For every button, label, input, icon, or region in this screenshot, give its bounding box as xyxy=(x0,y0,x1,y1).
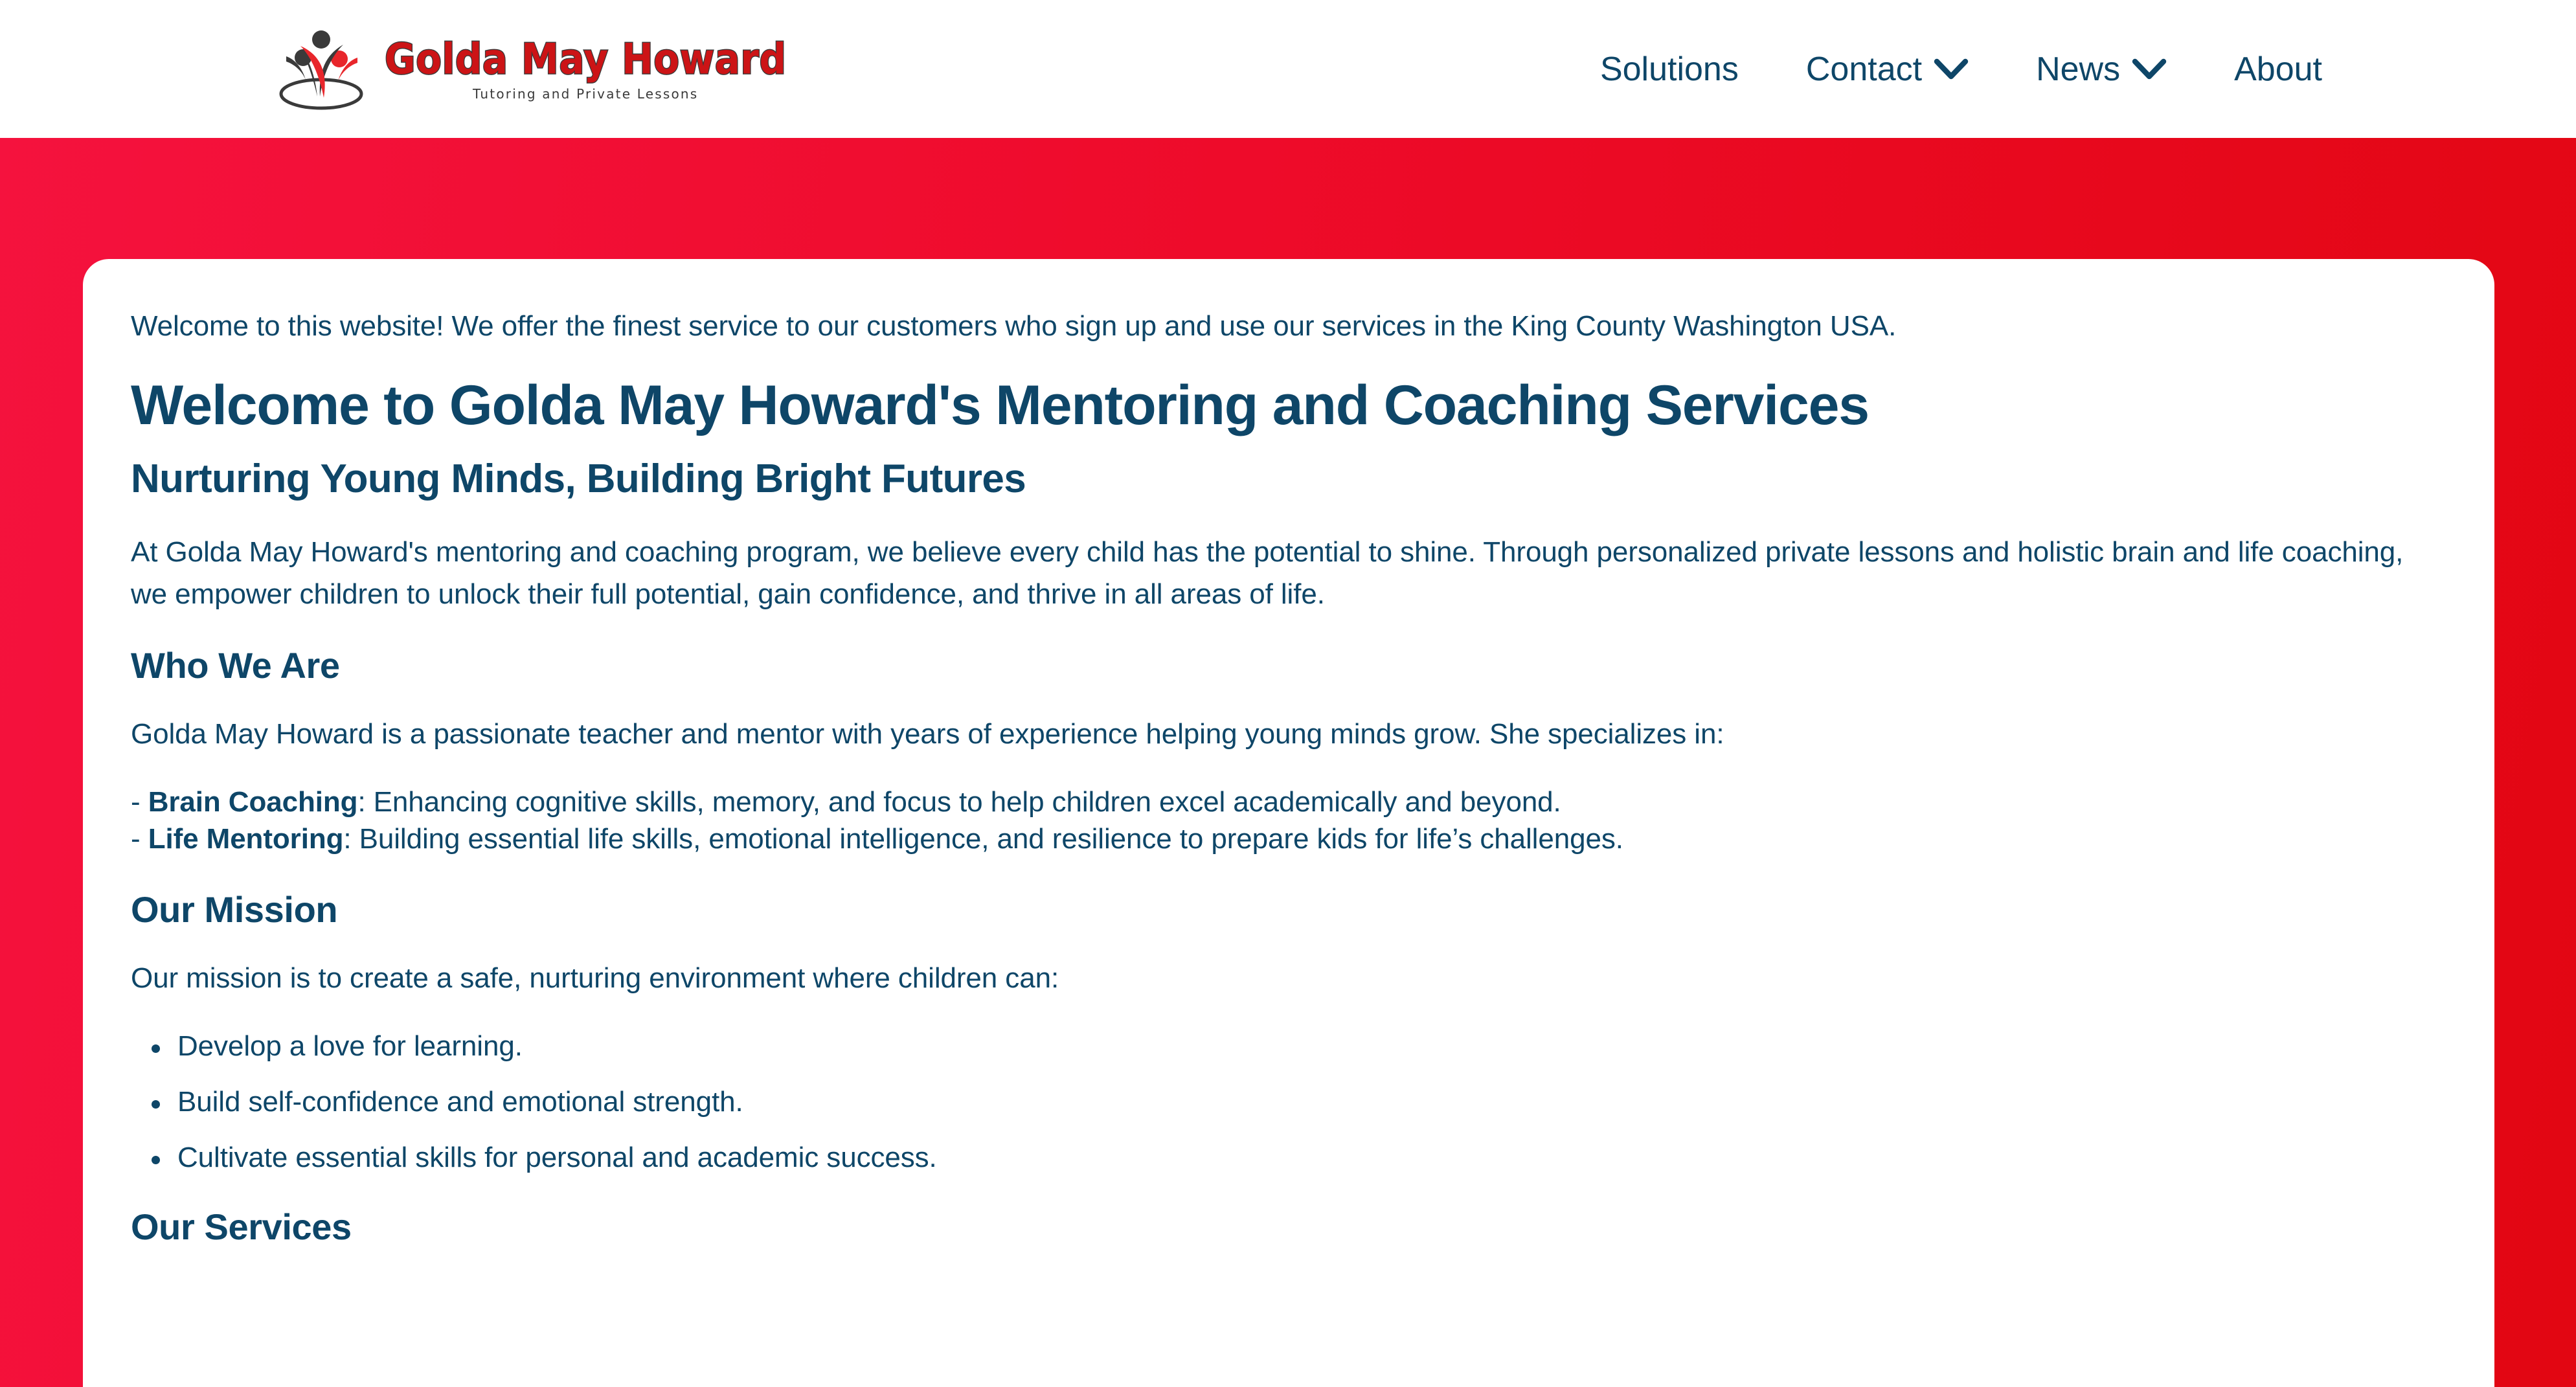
main-navigation: Solutions Contact News About xyxy=(1566,52,2356,86)
mission-list: Develop a love for learning. Build self-… xyxy=(131,1028,2446,1177)
who-we-are-paragraph: Golda May Howard is a passionate teacher… xyxy=(131,713,2446,755)
specialties-list: - Brain Coaching: Enhancing cognitive sk… xyxy=(131,784,2446,857)
list-item: Develop a love for learning. xyxy=(131,1028,2446,1065)
specialty-item: - Brain Coaching: Enhancing cognitive sk… xyxy=(131,784,2446,820)
nav-label-contact: Contact xyxy=(1806,52,1922,86)
specialty-prefix: - xyxy=(131,786,148,818)
page-title: Welcome to Golda May Howard's Mentoring … xyxy=(131,373,2446,438)
nav-item-contact[interactable]: Contact xyxy=(1772,52,2002,86)
nav-item-about[interactable]: About xyxy=(2200,52,2356,86)
section-heading-our-mission: Our Mission xyxy=(131,888,2446,931)
section-heading-who-we-are: Who We Are xyxy=(131,644,2446,687)
nav-item-news[interactable]: News xyxy=(2002,52,2200,86)
page-root: Golda May Howard Tutoring and Private Le… xyxy=(0,0,2576,1387)
nav-item-solutions[interactable]: Solutions xyxy=(1566,52,1772,86)
lead-paragraph: At Golda May Howard's mentoring and coac… xyxy=(131,531,2446,615)
specialty-item: - Life Mentoring: Building essential lif… xyxy=(131,820,2446,857)
content-card: Welcome to this website! We offer the fi… xyxy=(83,259,2494,1387)
nav-label-news: News xyxy=(2036,52,2120,86)
specialty-term: Life Mentoring xyxy=(148,823,344,855)
list-item: Cultivate essential skills for personal … xyxy=(131,1139,2446,1177)
three-people-logo-icon xyxy=(272,24,370,115)
brand-name: Golda May Howard xyxy=(385,38,786,80)
chevron-down-icon[interactable] xyxy=(1934,58,1969,80)
specialty-description: : Building essential life skills, emotio… xyxy=(343,823,1623,855)
intro-text: Welcome to this website! We offer the fi… xyxy=(131,306,2446,347)
specialty-term: Brain Coaching xyxy=(148,786,358,818)
list-item: Build self-confidence and emotional stre… xyxy=(131,1083,2446,1121)
brand-tagline: Tutoring and Private Lessons xyxy=(473,86,698,102)
nav-label-solutions: Solutions xyxy=(1600,52,1739,86)
specialty-description: : Enhancing cognitive skills, memory, an… xyxy=(357,786,1561,818)
site-header: Golda May Howard Tutoring and Private Le… xyxy=(0,0,2576,138)
brand-logo-link[interactable]: Golda May Howard Tutoring and Private Le… xyxy=(272,24,786,115)
our-mission-paragraph: Our mission is to create a safe, nurturi… xyxy=(131,957,2446,999)
page-subtitle: Nurturing Young Minds, Building Bright F… xyxy=(131,455,2446,503)
specialty-prefix: - xyxy=(131,823,148,855)
nav-label-about: About xyxy=(2234,52,2322,86)
brand-wordmark: Golda May Howard Tutoring and Private Le… xyxy=(385,36,786,102)
section-heading-our-services: Our Services xyxy=(131,1205,2446,1248)
chevron-down-icon[interactable] xyxy=(2132,58,2167,80)
